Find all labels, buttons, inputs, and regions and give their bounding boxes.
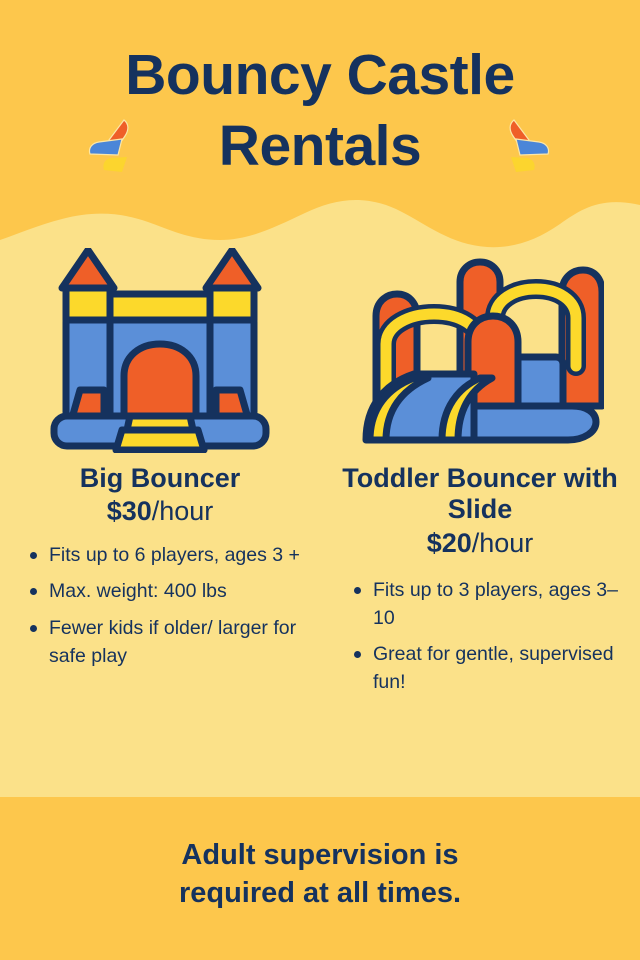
price-amount: $20 — [427, 528, 472, 558]
confetti-burst-right-icon — [492, 114, 554, 176]
footer-notice: Adult supervision is required at all tim… — [139, 837, 501, 912]
header-title-block: Bouncy Castle Rentals — [0, 0, 640, 215]
bouncy-castle-illustration — [44, 248, 276, 453]
toddler-bouncer-with-slide-illustration — [356, 256, 604, 446]
product-column-toddler-bouncer: Toddler Bouncer with Slide $20/hour Fits… — [320, 238, 640, 706]
footer-banner: Adult supervision is required at all tim… — [0, 797, 640, 960]
feature-list-toddler-bouncer: Fits up to 3 players, ages 3–10 Great fo… — [354, 577, 640, 697]
page-title-line-2: Rentals — [219, 118, 421, 175]
poster: Bouncy Castle Rentals — [0, 0, 640, 960]
list-item: Fewer kids if older/ larger for safe pla… — [30, 615, 312, 670]
page-title-line-1: Bouncy Castle — [125, 47, 514, 104]
list-item: Max. weight: 400 lbs — [30, 578, 312, 606]
product-columns: Big Bouncer $30/hour Fits up to 6 player… — [0, 238, 640, 798]
price-unit: /hour — [472, 528, 534, 558]
product-price-toddler-bouncer: $20/hour — [320, 528, 640, 559]
header-banner: Bouncy Castle Rentals — [0, 0, 640, 262]
product-title-toddler-bouncer: Toddler Bouncer with Slide — [320, 463, 640, 526]
product-title-big-bouncer: Big Bouncer — [0, 463, 320, 494]
footer-notice-line-2: required at all times. — [179, 875, 461, 913]
list-item: Great for gentle, supervised fun! — [354, 641, 632, 696]
product-price-big-bouncer: $30/hour — [0, 496, 320, 527]
list-item: Fits up to 3 players, ages 3–10 — [354, 577, 632, 632]
footer-notice-line-1: Adult supervision is — [179, 837, 461, 875]
confetti-burst-left-icon — [84, 114, 146, 176]
list-item: Fits up to 6 players, ages 3 + — [30, 542, 312, 570]
product-column-big-bouncer: Big Bouncer $30/hour Fits up to 6 player… — [0, 238, 320, 706]
toddler-bouncer-art-wrapper — [320, 238, 640, 463]
bouncy-castle-art-wrapper — [0, 238, 320, 463]
price-amount: $30 — [107, 496, 152, 526]
feature-list-big-bouncer: Fits up to 6 players, ages 3 + Max. weig… — [30, 542, 320, 671]
price-unit: /hour — [152, 496, 214, 526]
